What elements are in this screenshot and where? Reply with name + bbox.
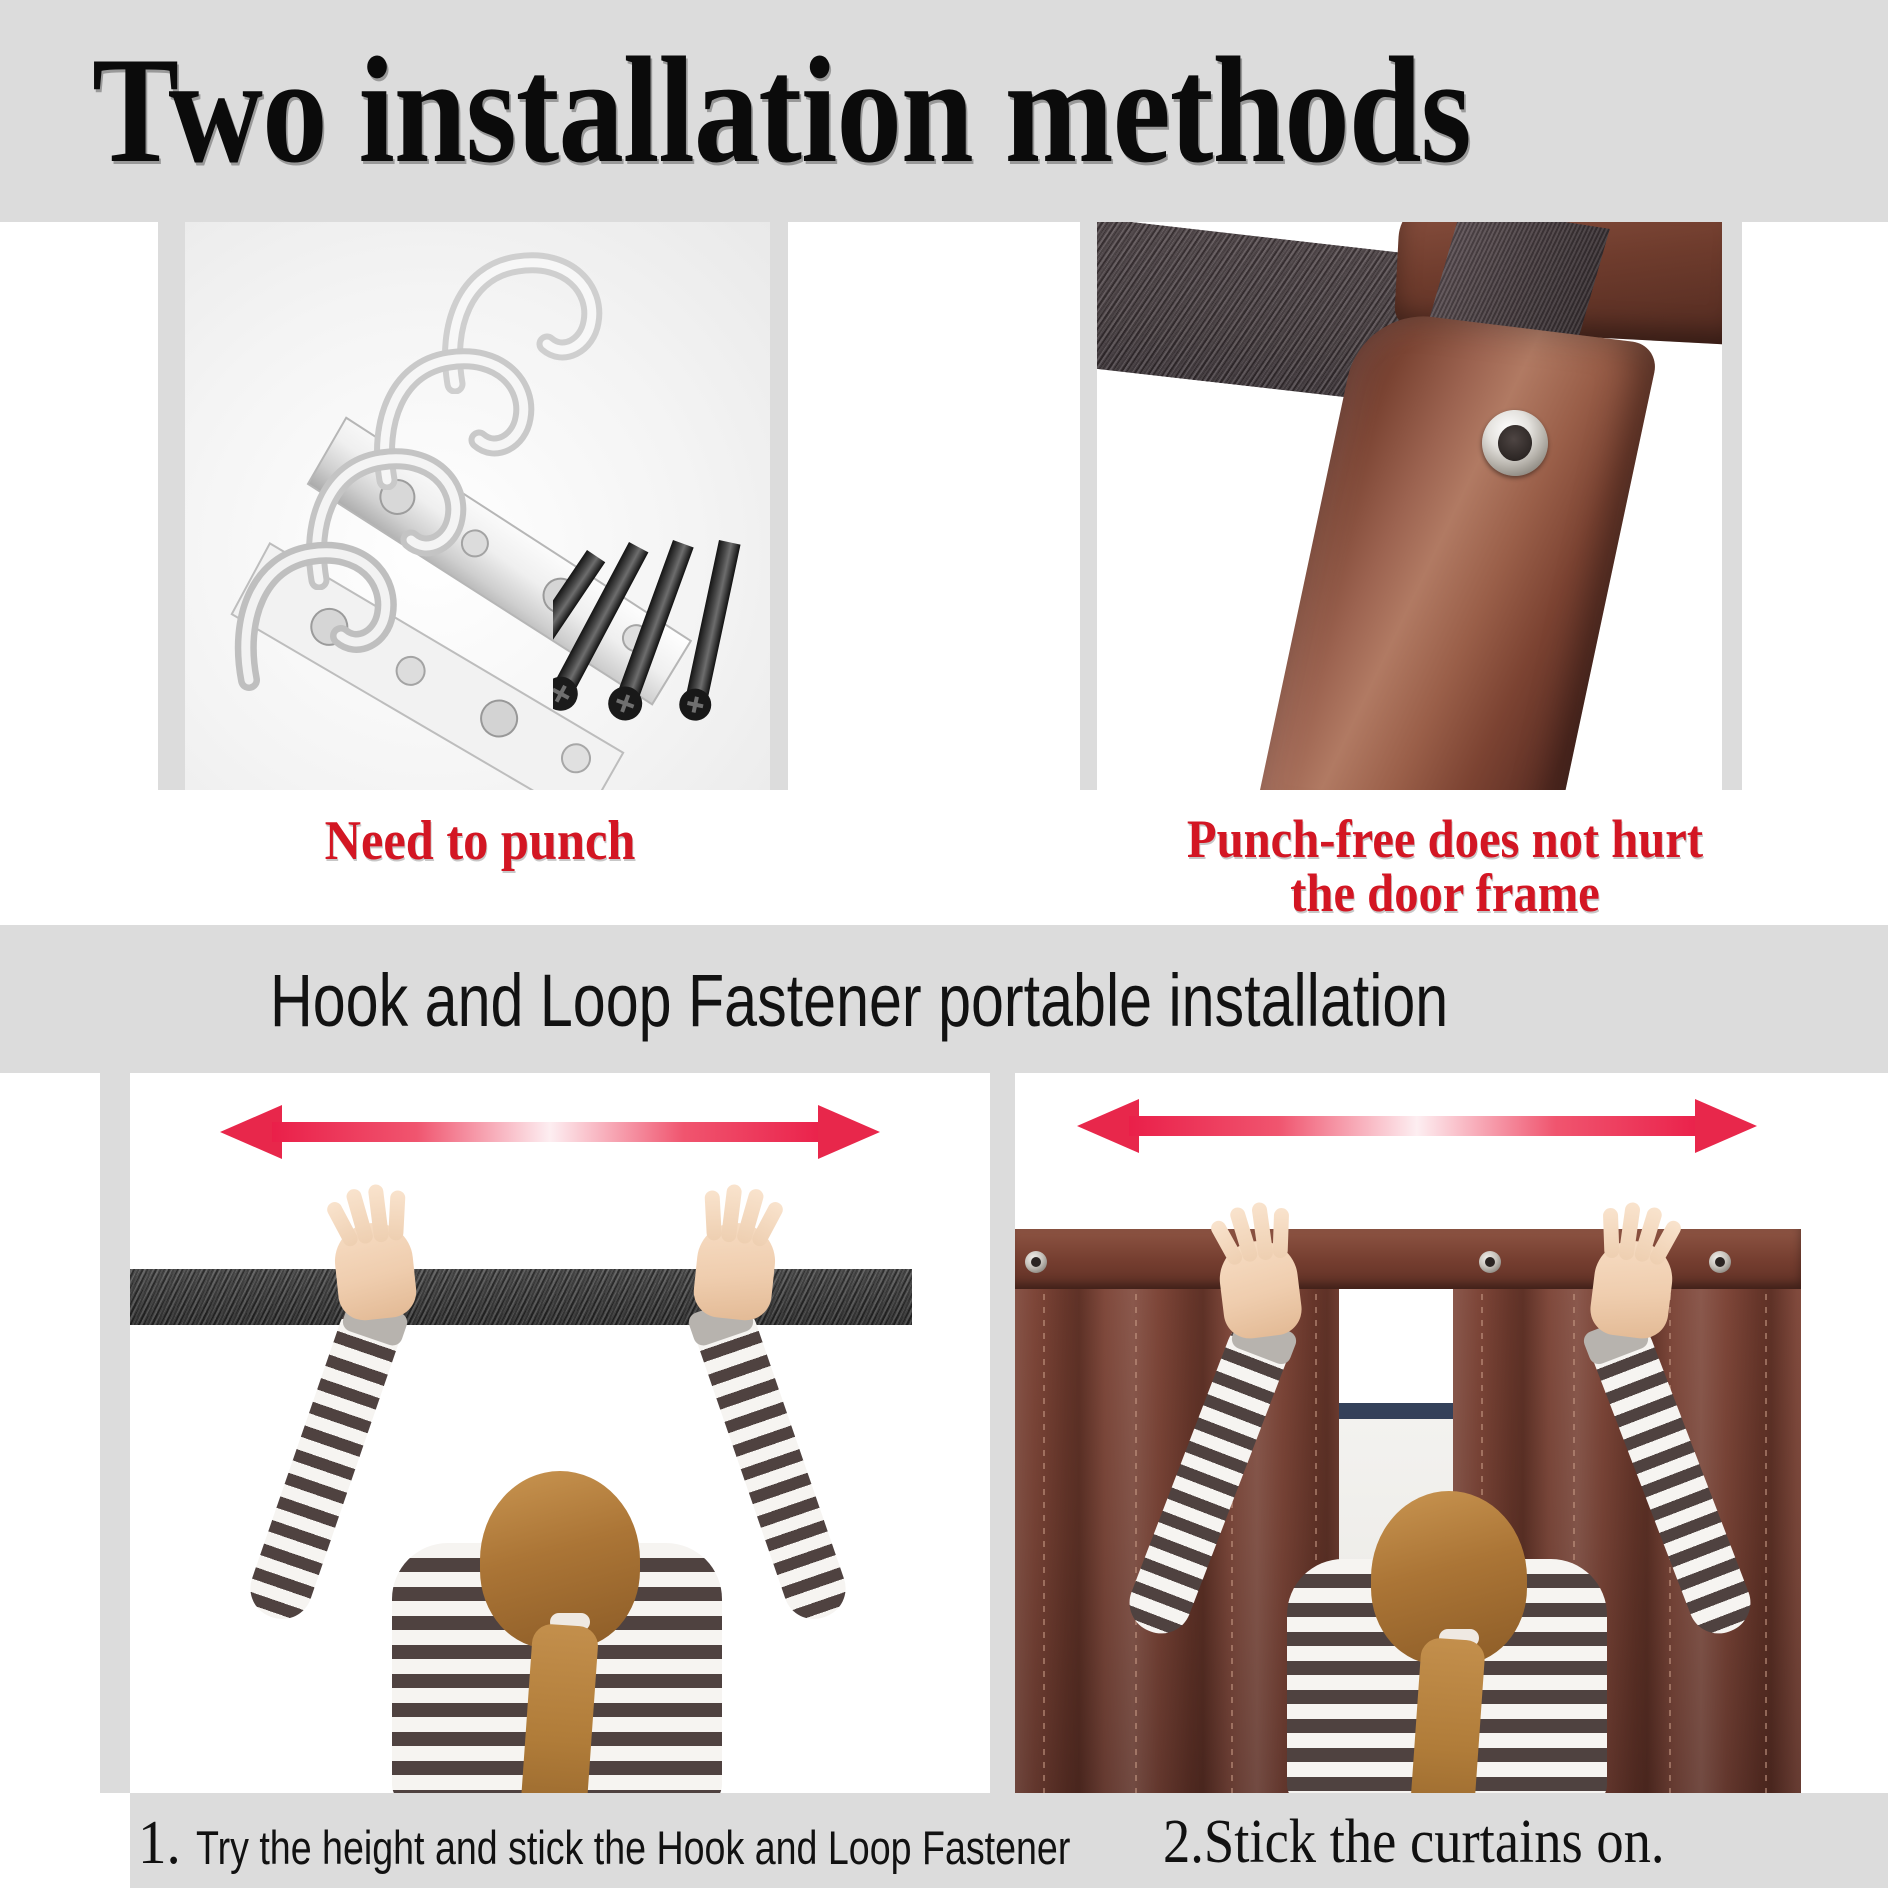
step-2-text: 2.Stick the curtains on.	[1163, 1810, 1665, 1874]
divider-left-outer	[158, 222, 185, 790]
caption-punch-free-line2: the door frame	[1072, 866, 1819, 920]
divider-bottom-middle	[990, 1073, 1015, 1793]
right-arm	[1583, 1312, 1759, 1642]
right-hand	[691, 1219, 779, 1323]
scene-stick-curtains	[1015, 1073, 1888, 1793]
left-arm	[1121, 1312, 1297, 1642]
caption-punch-free-line1: Punch-free does not hurt	[1072, 812, 1819, 866]
caption-need-to-punch: Need to punch	[147, 810, 813, 872]
person-installing-right	[1015, 1073, 1888, 1793]
photo-hooks-and-screws	[185, 222, 770, 790]
divider-right-inner	[1080, 222, 1097, 790]
person-installing-left	[130, 1073, 990, 1793]
infographic-stage: Two installation methods	[0, 0, 1888, 1888]
left-hand	[331, 1219, 419, 1323]
caption-punch-free: Punch-free does not hurt the door frame	[1072, 812, 1819, 920]
ponytail	[1408, 1637, 1486, 1793]
screws-group	[553, 540, 770, 785]
left-arm	[242, 1295, 408, 1627]
step-1-text: Try the height and stick the Hook and Lo…	[196, 1823, 1070, 1873]
right-hand	[1587, 1237, 1676, 1342]
curtain-hook-4	[223, 522, 453, 692]
divider-bottom-left	[100, 1073, 130, 1793]
divider-right-outer	[1722, 222, 1742, 790]
page-title: Two installation methods	[92, 26, 1571, 196]
middle-banner-text: Hook and Loop Fastener portable installa…	[270, 960, 1430, 1042]
left-hand	[1215, 1237, 1304, 1342]
scene-stick-hook-and-loop	[130, 1073, 990, 1793]
ponytail	[519, 1623, 599, 1793]
step-1-number: 1.	[138, 1812, 181, 1874]
divider-left-inner	[770, 222, 788, 790]
photo-velcro-on-leather	[1097, 222, 1722, 790]
